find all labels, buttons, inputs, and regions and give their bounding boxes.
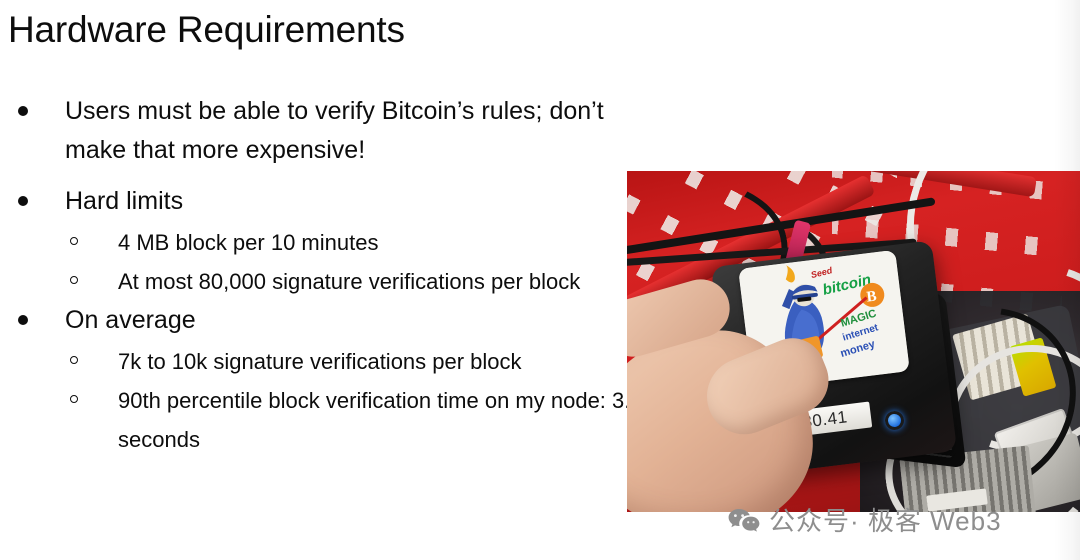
list-item-label: On average — [65, 306, 196, 334]
bullet-disc-icon — [18, 196, 28, 206]
list-item-label: 7k to 10k signature verifications per bl… — [118, 349, 522, 374]
list-item-label: Users must be able to verify Bitcoin’s r… — [65, 97, 604, 164]
hardware-photo: bitcoin Seed B MAGIC internet money Join… — [627, 171, 1080, 512]
svg-text:B: B — [866, 288, 878, 305]
list-item: Hard limits — [0, 182, 660, 221]
bullet-circle-icon — [70, 237, 78, 245]
list-item-label: 4 MB block per 10 minutes — [118, 230, 378, 255]
list-item: At most 80,000 signature verifications p… — [0, 262, 660, 301]
list-item: 7k to 10k signature verifications per bl… — [0, 342, 660, 381]
list-item-label: Hard limits — [65, 187, 183, 215]
list-item: 4 MB block per 10 minutes — [0, 223, 660, 262]
watermark-label: 公众号· 极客 Web3 — [769, 504, 1002, 538]
bullet-disc-icon — [18, 315, 28, 325]
bullet-disc-icon — [18, 106, 28, 116]
wechat-icon — [728, 508, 760, 534]
page-title: Hardware Requirements — [8, 6, 405, 54]
watermark: 公众号· 极客 Web3 — [728, 504, 1002, 538]
list-item-label: 90th percentile block verification time … — [118, 388, 643, 452]
list-group-spacer — [0, 172, 660, 182]
presentation-slide: Hardware Requirements Users must be able… — [0, 0, 1080, 560]
list-item-label: At most 80,000 signature verifications p… — [118, 269, 580, 294]
bullet-circle-icon — [70, 276, 78, 284]
list-item: Users must be able to verify Bitcoin’s r… — [0, 92, 660, 170]
bullet-circle-icon — [70, 356, 78, 364]
bullet-circle-icon — [70, 395, 78, 403]
list-item: On average — [0, 301, 660, 340]
list-item: 90th percentile block verification time … — [0, 381, 660, 459]
bullet-list: Users must be able to verify Bitcoin’s r… — [0, 92, 660, 459]
